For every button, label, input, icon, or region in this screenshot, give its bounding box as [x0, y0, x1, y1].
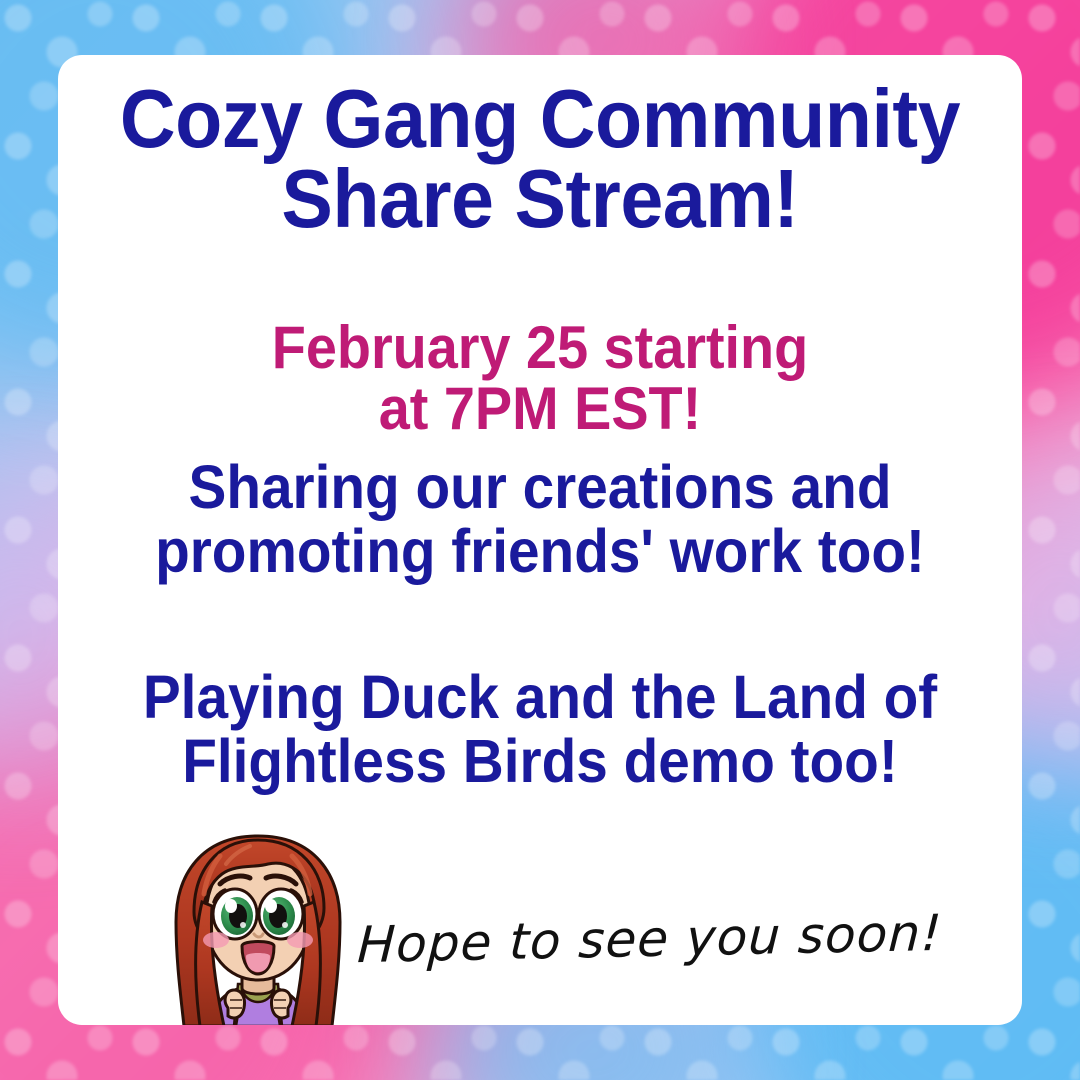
- event-description-playing: Playing Duck and the Land of Flightless …: [92, 665, 989, 793]
- event-description-sharing: Sharing our creations and promoting frie…: [92, 455, 989, 583]
- announcement-poster: Cozy Gang Community Share Stream! Februa…: [0, 0, 1080, 1080]
- sharing-line-1: Sharing our creations and: [92, 455, 989, 519]
- title-line-1: Cozy Gang Community: [92, 79, 989, 159]
- playing-line-2: Flightless Birds demo too!: [92, 729, 989, 793]
- date-line-1: February 25 starting: [92, 317, 989, 378]
- event-datetime: February 25 starting at 7PM EST!: [92, 317, 989, 439]
- closing-message: Hope to see you soon!: [356, 904, 943, 974]
- sharing-line-2: promoting friends' work too!: [92, 519, 989, 583]
- cozy-gang-girl-avatar: [150, 830, 366, 1025]
- white-content-card: Cozy Gang Community Share Stream! Februa…: [58, 55, 1022, 1025]
- page-title: Cozy Gang Community Share Stream!: [92, 79, 989, 238]
- title-line-2: Share Stream!: [92, 159, 989, 239]
- playing-line-1: Playing Duck and the Land of: [92, 665, 989, 729]
- date-line-2: at 7PM EST!: [92, 378, 989, 439]
